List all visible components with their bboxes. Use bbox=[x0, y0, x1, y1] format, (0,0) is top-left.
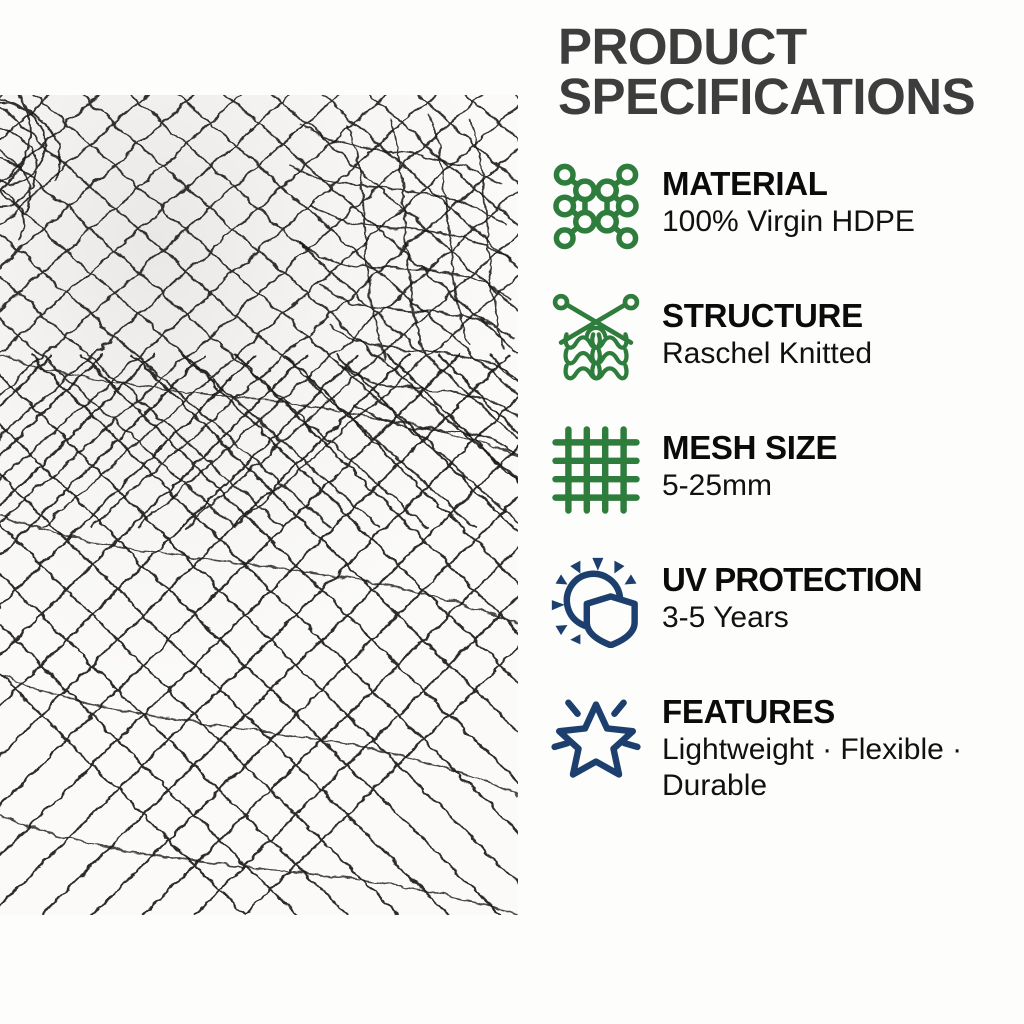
specifications-panel: PRODUCT SPECIFICATIONS bbox=[518, 0, 1024, 1024]
spec-row-mesh-size: MESH SIZE 5-25mm bbox=[548, 422, 1024, 518]
sun-shield-icon bbox=[548, 554, 644, 650]
spec-row-features: FEATURES Lightweight · Flexible · Durabl… bbox=[548, 686, 1024, 804]
knitting-needles-icon bbox=[548, 290, 644, 386]
spec-value-structure: Raschel Knitted bbox=[662, 336, 1024, 371]
spec-value-mesh-size: 5-25mm bbox=[662, 468, 1024, 503]
sparkle-star-icon bbox=[548, 686, 644, 782]
spec-text-uv-protection: UV PROTECTION 3-5 Years bbox=[662, 554, 1024, 635]
spec-row-structure: STRUCTURE Raschel Knitted bbox=[548, 290, 1024, 386]
spec-label-structure: STRUCTURE bbox=[662, 298, 1024, 334]
mesh-grid-icon bbox=[548, 422, 644, 518]
spec-row-material: MATERIAL 100% Virgin HDPE bbox=[548, 158, 1024, 254]
spec-label-material: MATERIAL bbox=[662, 166, 1024, 202]
spec-label-features: FEATURES bbox=[662, 694, 1024, 730]
product-photo bbox=[0, 95, 518, 915]
infographic-canvas: PRODUCT SPECIFICATIONS bbox=[0, 0, 1024, 1024]
page-title: PRODUCT SPECIFICATIONS bbox=[558, 22, 1018, 122]
spec-text-mesh-size: MESH SIZE 5-25mm bbox=[662, 422, 1024, 503]
spec-text-structure: STRUCTURE Raschel Knitted bbox=[662, 290, 1024, 371]
spec-text-features: FEATURES Lightweight · Flexible · Durabl… bbox=[662, 686, 1024, 804]
spec-label-mesh-size: MESH SIZE bbox=[662, 430, 1024, 466]
spec-row-uv-protection: UV PROTECTION 3-5 Years bbox=[548, 554, 1024, 650]
spec-list: MATERIAL 100% Virgin HDPE bbox=[548, 158, 1024, 804]
spec-label-uv-protection: UV PROTECTION bbox=[662, 562, 1024, 598]
spec-value-features: Lightweight · Flexible · Durable bbox=[662, 732, 1024, 804]
polymer-molecule-icon bbox=[548, 158, 644, 254]
spec-value-uv-protection: 3-5 Years bbox=[662, 600, 1024, 635]
netting-mesh-illustration bbox=[0, 95, 518, 915]
spec-text-material: MATERIAL 100% Virgin HDPE bbox=[662, 158, 1024, 239]
spec-value-material: 100% Virgin HDPE bbox=[662, 204, 1024, 239]
